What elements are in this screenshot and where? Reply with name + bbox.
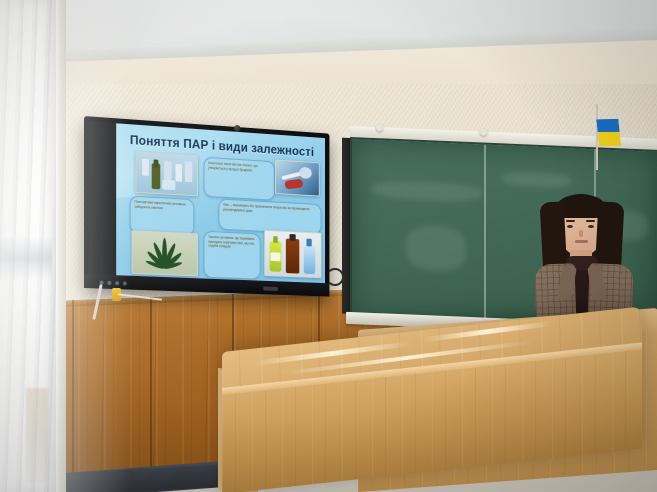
wainscot-seam [150, 297, 152, 486]
classroom-screenshot: Поняття ПАР і види залежності Алкогольні… [0, 0, 657, 492]
window-frame [56, 0, 66, 492]
source-button-icon[interactable] [123, 281, 127, 285]
cannabis-leaf-photo [132, 230, 198, 276]
vertical-blinds[interactable] [0, 0, 56, 492]
interactive-flat-panel[interactable]: Поняття ПАР і види залежності Алкогольні… [84, 116, 329, 297]
callout-household: Токсичні речовини, що переважно приходят… [204, 231, 261, 280]
callout-alcohol: Алкогольні напої містять етанол, що утво… [204, 157, 276, 201]
chalk-smudge [406, 225, 466, 272]
panel-screen[interactable]: Поняття ПАР і види залежності Алкогольні… [89, 121, 325, 283]
presentation-slide: Поняття ПАР і види залежності Алкогольні… [116, 123, 325, 283]
blind-stain [26, 388, 48, 483]
wainscot-seam [72, 300, 74, 489]
coiled-cable [326, 268, 344, 286]
syringe-medicine-photo [275, 159, 320, 196]
chalkboard-side-edge [342, 138, 350, 314]
eyebrow-left [566, 220, 575, 222]
menu-button-icon[interactable] [107, 281, 111, 285]
eye-left [567, 225, 573, 228]
chalk-smudge [502, 171, 572, 188]
brand-logo [263, 287, 277, 291]
household-chemicals-photo [264, 230, 321, 278]
panel-control-buttons[interactable] [100, 281, 127, 286]
volume-button-icon[interactable] [115, 281, 119, 285]
chalk-smudge [372, 180, 482, 203]
flag-yellow-stripe [598, 130, 622, 148]
ukrainian-flag [596, 117, 623, 153]
nose [579, 230, 583, 237]
rail-clip-icon [376, 124, 383, 131]
alcohol-bottles-photo [135, 151, 197, 196]
eye-right [588, 225, 594, 228]
mouth [575, 240, 588, 243]
rail-clip-icon [480, 128, 487, 135]
blind-shadow [0, 236, 52, 280]
chalkboard-divider [484, 145, 486, 323]
flag-blue-stripe [596, 117, 619, 134]
eyebrow-right [586, 220, 595, 222]
